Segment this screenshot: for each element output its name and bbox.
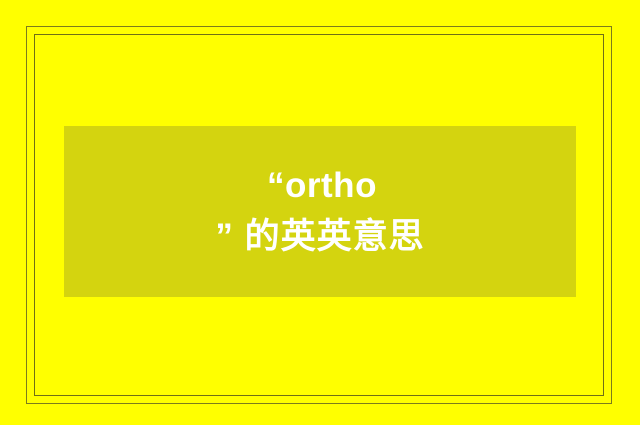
page-canvas: “ortho ” 的英英意思 (0, 0, 640, 425)
title-line-2: ” 的英英意思 (215, 219, 424, 256)
title-panel: “ortho ” 的英英意思 (64, 126, 576, 297)
title-line-1: “ortho (263, 168, 377, 205)
